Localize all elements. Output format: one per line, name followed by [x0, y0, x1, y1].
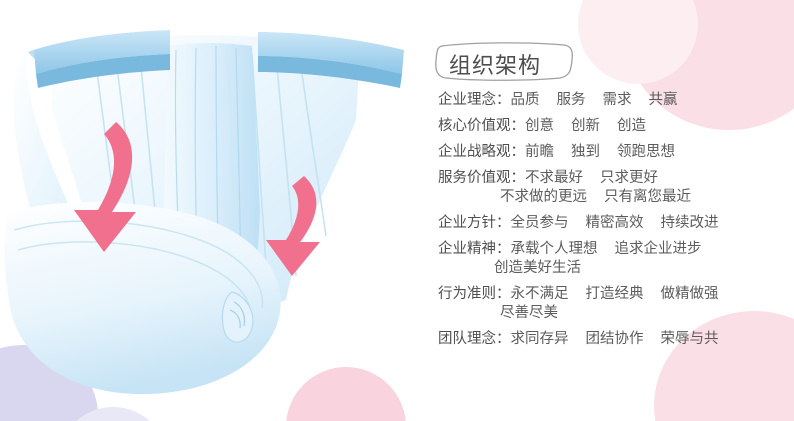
- row-value: 承载个人理想: [511, 242, 598, 257]
- page-title: 组织架构: [449, 48, 541, 80]
- row-value: 创意: [525, 119, 554, 134]
- row-value: 只求更好: [600, 171, 658, 186]
- row-value: 创新: [571, 119, 600, 134]
- row-values: 求同存异 团结协作 荣辱与共: [511, 332, 719, 347]
- row-values: 创意 创新 创造: [525, 119, 646, 134]
- row-value: 永不满足: [511, 287, 569, 302]
- org-structure-panel: 组织架构 企业理念： 品质 服务 需求 共赢 核心价值观： 创意 创新 创造: [432, 0, 794, 421]
- row-value: 求同存异: [511, 332, 569, 347]
- panel-title-badge: 组织架构: [432, 40, 576, 82]
- row-value: 服务: [557, 93, 586, 108]
- list-item: 服务价值观： 不求最好 只求更好: [438, 171, 794, 186]
- row-values: 尽善尽美: [500, 306, 558, 321]
- row-label: 核心价值观：: [438, 119, 525, 134]
- row-value: 独到: [571, 145, 600, 160]
- row-value: 持续改进: [661, 216, 719, 231]
- row-value: 品质: [511, 93, 540, 108]
- row-value: 不求做的更远: [500, 190, 587, 205]
- list-item: 尽善尽美: [438, 306, 794, 321]
- row-label: 企业方针：: [438, 216, 511, 231]
- row-value: 荣辱与共: [661, 332, 719, 347]
- row-values: 不求做的更远 只有离您最近: [500, 190, 691, 205]
- row-values: 不求最好 只求更好: [525, 171, 658, 186]
- row-value: 创造美好生活: [494, 261, 581, 276]
- row-value: 追求企业进步: [615, 242, 702, 257]
- row-value: 只有离您最近: [604, 190, 691, 205]
- row-values: 全员参与 精密高效 持续改进: [511, 216, 719, 231]
- row-value: 全员参与: [511, 216, 569, 231]
- row-value: 需求: [603, 93, 632, 108]
- row-value: 团结协作: [586, 332, 644, 347]
- baby-diaper-illustration: [0, 0, 420, 421]
- list-item: 团队理念： 求同存异 团结协作 荣辱与共: [438, 332, 794, 347]
- list-item: 行为准则： 永不满足 打造经典 做精做强: [438, 287, 794, 302]
- slide-canvas: 组织架构 企业理念： 品质 服务 需求 共赢 核心价值观： 创意 创新 创造: [0, 0, 794, 421]
- row-values: 永不满足 打造经典 做精做强: [511, 287, 719, 302]
- row-label: 行为准则：: [438, 287, 511, 302]
- row-value: 打造经典: [586, 287, 644, 302]
- row-value: 不求最好: [525, 171, 583, 186]
- row-values: 创造美好生活: [494, 261, 581, 276]
- row-value: 共赢: [649, 93, 678, 108]
- row-label: 服务价值观：: [438, 171, 525, 186]
- row-values: 前瞻 独到 领跑思想: [525, 145, 675, 160]
- row-value: 做精做强: [661, 287, 719, 302]
- list-item: 创造美好生活: [438, 261, 794, 276]
- row-value: 前瞻: [525, 145, 554, 160]
- row-value: 创造: [617, 119, 646, 134]
- list-item: 不求做的更远 只有离您最近: [438, 190, 794, 205]
- row-value: 领跑思想: [617, 145, 675, 160]
- row-label: 团队理念：: [438, 332, 511, 347]
- row-value: 精密高效: [586, 216, 644, 231]
- row-value: 尽善尽美: [500, 306, 558, 321]
- principles-list: 企业理念： 品质 服务 需求 共赢 核心价值观： 创意 创新 创造 企业战略观：: [438, 93, 794, 358]
- list-item: 企业精神： 承载个人理想 追求企业进步: [438, 242, 794, 257]
- row-values: 承载个人理想 追求企业进步: [511, 242, 702, 257]
- row-values: 品质 服务 需求 共赢: [511, 93, 678, 108]
- list-item: 企业理念： 品质 服务 需求 共赢: [438, 93, 794, 108]
- row-label: 企业理念：: [438, 93, 511, 108]
- list-item: 企业方针： 全员参与 精密高效 持续改进: [438, 216, 794, 231]
- list-item: 企业战略观： 前瞻 独到 领跑思想: [438, 145, 794, 160]
- list-item: 核心价值观： 创意 创新 创造: [438, 119, 794, 134]
- row-label: 企业战略观：: [438, 145, 525, 160]
- row-label: 企业精神：: [438, 242, 511, 257]
